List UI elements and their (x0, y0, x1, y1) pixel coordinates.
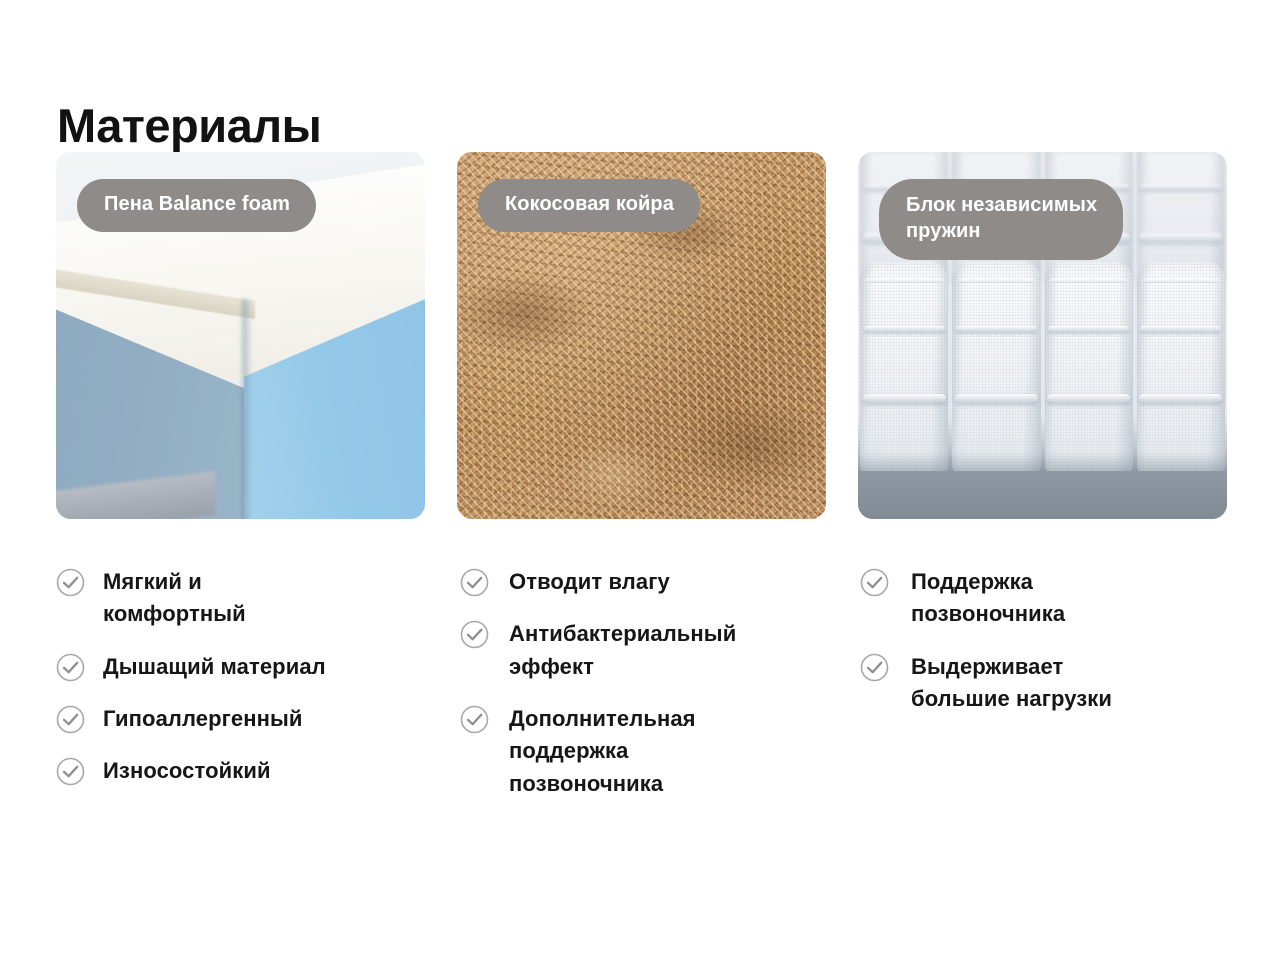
list-item: Выдерживает большие нагрузки (860, 651, 1236, 716)
feature-label: Отводит влагу (509, 566, 670, 598)
feature-label: Износостойкий (103, 755, 271, 787)
foam-corner-shadow (242, 299, 251, 519)
list-item: Мягкий и комфортный (56, 566, 460, 631)
spring-band (865, 279, 943, 283)
card-label-foam: Пена Balance foam (77, 179, 316, 232)
spring-band (958, 279, 1036, 283)
list-item: Гипоаллергенный (56, 703, 460, 735)
material-cards-row: Пена Balance foam Кокосовая койра (56, 152, 1228, 519)
spring-band (1050, 279, 1128, 283)
springs-floor (858, 471, 1227, 519)
check-circle-icon (56, 757, 85, 786)
feature-column-foam: Мягкий и комфортный Дышащий материал Гип… (56, 566, 460, 820)
list-item: Дополнительная поддержка позвоночника (460, 703, 860, 800)
list-item: Антибактериальный эффект (460, 618, 860, 683)
check-circle-icon (460, 705, 489, 734)
materials-slide: Материалы Пена Balance foam Кокосовая ко… (0, 0, 1280, 960)
spring-coil (1045, 262, 1133, 475)
features-row: Мягкий и комфортный Дышащий материал Гип… (56, 566, 1236, 820)
spring-coil (860, 262, 948, 475)
feature-label: Поддержка позвоночника (911, 566, 1065, 631)
card-label-coir: Кокосовая койра (478, 179, 700, 232)
feature-column-coir: Отводит влагу Антибактериальный эффект Д… (460, 566, 860, 820)
spring-band (1050, 152, 1128, 154)
spring-band (1142, 279, 1220, 283)
list-item: Дышащий материал (56, 651, 460, 683)
spring-coil (1137, 262, 1225, 475)
check-circle-icon (460, 620, 489, 649)
material-card-coir[interactable]: Кокосовая койра (457, 152, 826, 519)
feature-label: Дышащий материал (103, 651, 326, 683)
material-card-springs[interactable]: Блок независимых пружин (858, 152, 1227, 519)
spring-band (865, 152, 943, 154)
feature-column-springs: Поддержка позвоночника Выдерживает больш… (860, 566, 1236, 820)
check-circle-icon (56, 705, 85, 734)
feature-label: Гипоаллергенный (103, 703, 303, 735)
spring-band (1142, 152, 1220, 154)
spring-row-front (858, 262, 1227, 475)
check-circle-icon (860, 653, 889, 682)
check-circle-icon (56, 653, 85, 682)
list-item: Поддержка позвоночника (860, 566, 1236, 631)
list-item: Износостойкий (56, 755, 460, 787)
feature-label: Дополнительная поддержка позвоночника (509, 703, 696, 800)
check-circle-icon (56, 568, 85, 597)
card-label-springs: Блок независимых пружин (879, 179, 1123, 260)
check-circle-icon (460, 568, 489, 597)
feature-label: Выдерживает большие нагрузки (911, 651, 1112, 716)
feature-label: Антибактериальный эффект (509, 618, 736, 683)
spring-band (958, 152, 1036, 154)
page-title: Материалы (57, 100, 321, 152)
material-card-foam[interactable]: Пена Balance foam (56, 152, 425, 519)
check-circle-icon (860, 568, 889, 597)
list-item: Отводит влагу (460, 566, 860, 598)
feature-label: Мягкий и комфортный (103, 566, 246, 631)
spring-coil (952, 262, 1040, 475)
